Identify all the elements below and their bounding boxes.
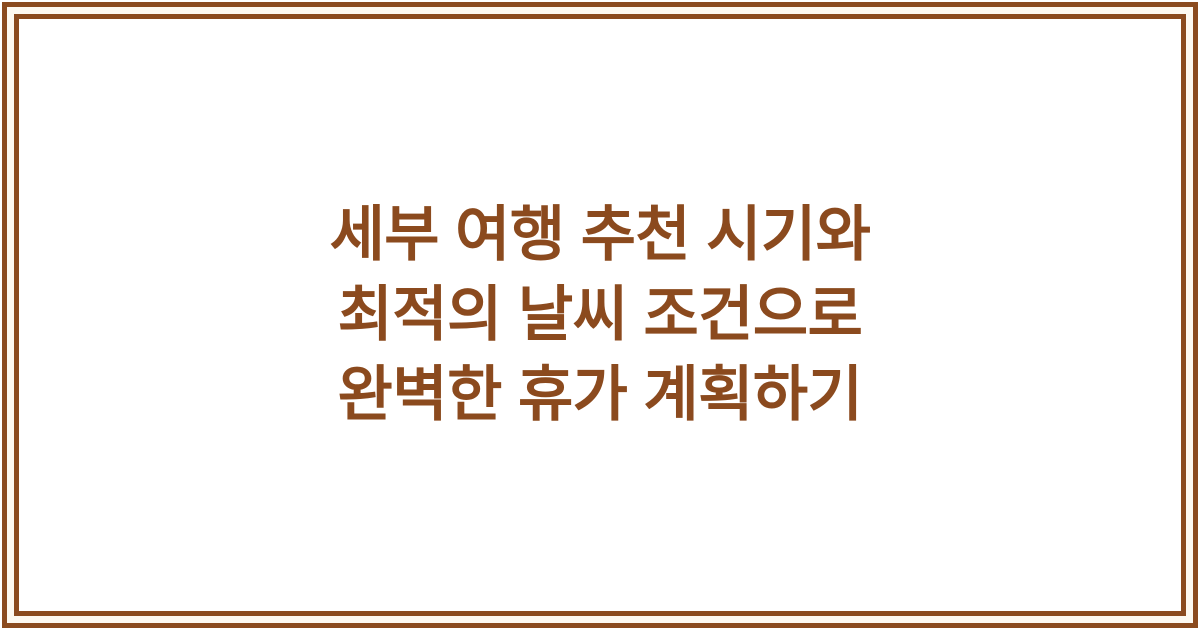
page-title-line-2: 최적의 날씨 조건으로 bbox=[330, 275, 871, 355]
page-title-line-1: 세부 여행 추천 시기와 bbox=[330, 195, 871, 275]
page-title: 세부 여행 추천 시기와 최적의 날씨 조건으로 완벽한 휴가 계획하기 bbox=[290, 195, 911, 435]
page-title-line-3: 완벽한 휴가 계획하기 bbox=[330, 355, 871, 435]
thumbnail-card: 세부 여행 추천 시기와 최적의 날씨 조건으로 완벽한 휴가 계획하기 bbox=[0, 0, 1200, 630]
content-area: 세부 여행 추천 시기와 최적의 날씨 조건으로 완벽한 휴가 계획하기 bbox=[19, 19, 1181, 611]
